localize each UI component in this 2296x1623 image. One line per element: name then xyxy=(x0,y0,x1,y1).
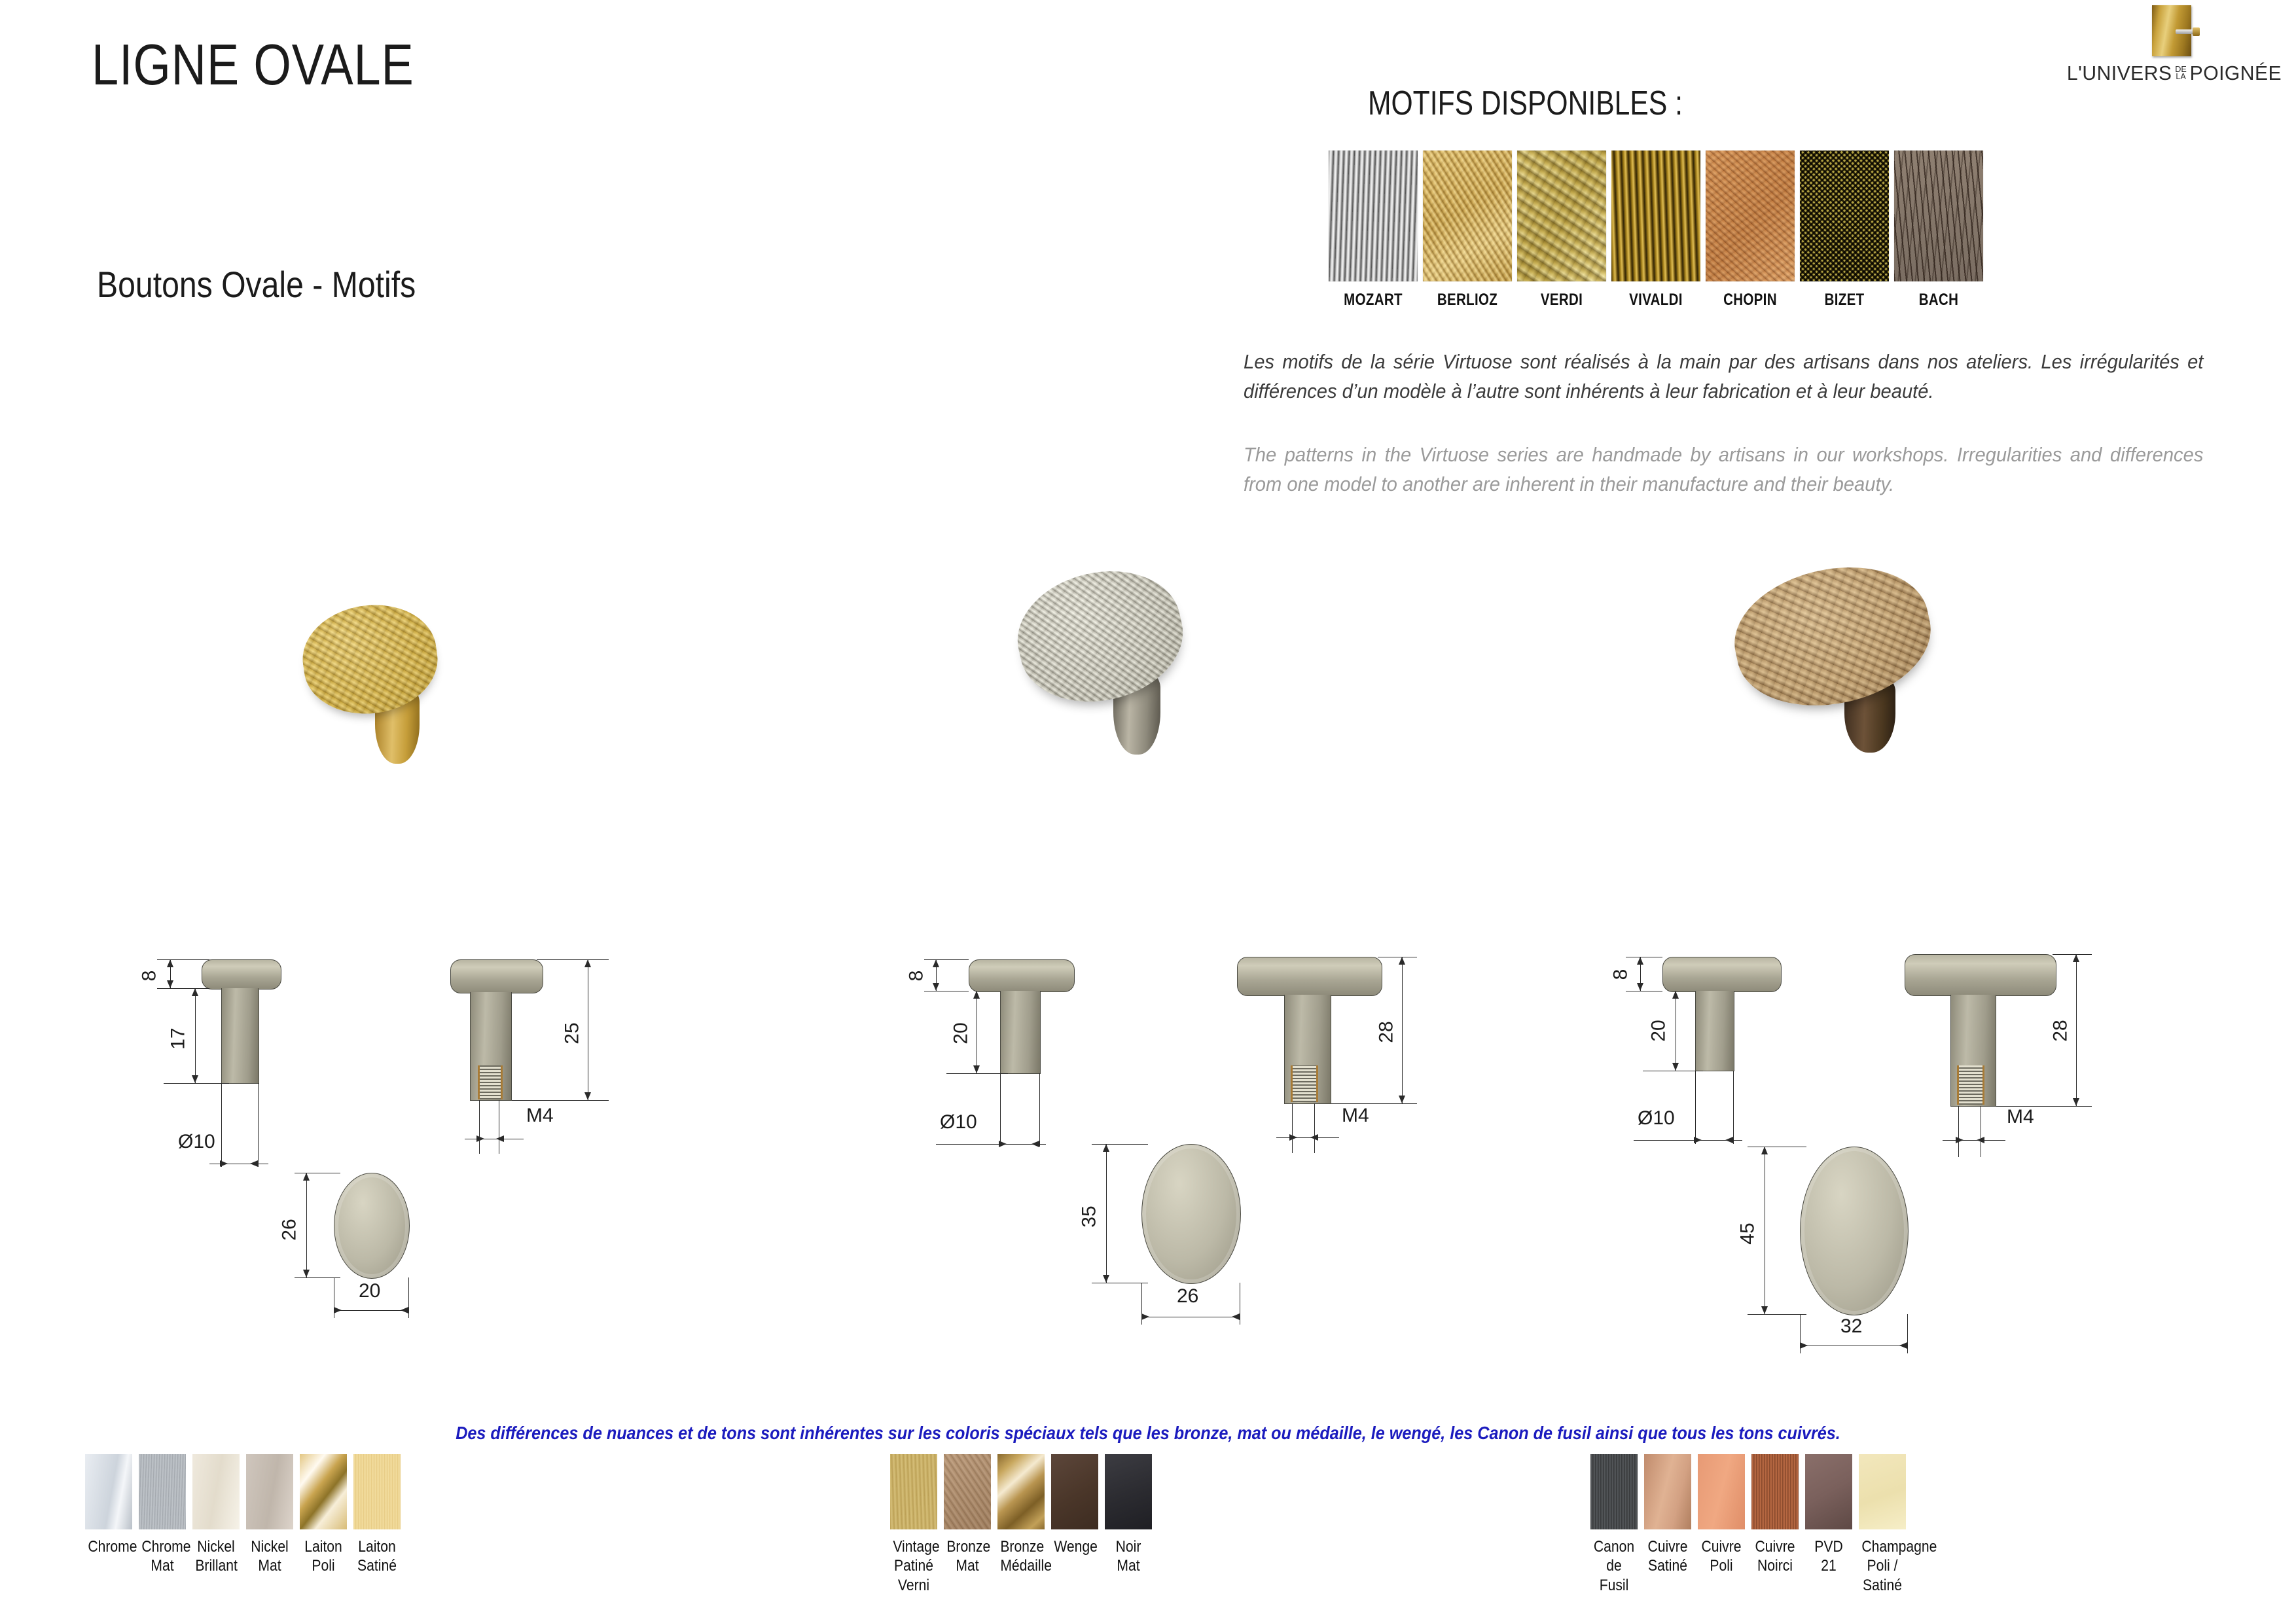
cap-profile xyxy=(450,959,543,993)
dim-total-height: 28 xyxy=(1376,1021,1398,1043)
ext-line xyxy=(946,1073,1008,1074)
ext-line xyxy=(157,959,209,960)
finish-label: Cuivre Poli xyxy=(1700,1537,1742,1576)
ext-line xyxy=(1039,1073,1040,1147)
finish-item: Wenge xyxy=(1051,1454,1098,1595)
dim-oval-width: 26 xyxy=(1177,1285,1198,1308)
arrow-head xyxy=(167,980,173,988)
arrow-head xyxy=(192,1075,198,1083)
arrow-head xyxy=(220,1160,228,1167)
ext-line xyxy=(1733,1071,1734,1144)
arrow-head xyxy=(303,1270,310,1277)
motif-item: BERLIOZ xyxy=(1423,151,1512,310)
finish-swatch-laiton-poli xyxy=(300,1454,347,1529)
dim-line xyxy=(977,991,977,1073)
finish-swatch-vintage-patine-verni xyxy=(890,1454,937,1529)
technical-drawing-small: 8 17 Ø10 25 M4 26 20 xyxy=(98,916,622,1257)
dim-line xyxy=(306,1173,307,1277)
arrow-head xyxy=(1637,957,1643,965)
stem-profile xyxy=(1695,991,1734,1071)
finish-swatch-bronze-medaille xyxy=(997,1454,1045,1529)
motif-swatch-mozart xyxy=(1329,151,1418,281)
dim-stem-length: 17 xyxy=(168,1027,190,1049)
brand-stack-bottom: LA xyxy=(2175,73,2187,80)
motif-item: VIVALDI xyxy=(1611,151,1700,310)
motif-item: CHOPIN xyxy=(1706,151,1795,310)
arrow-head xyxy=(973,991,980,999)
knob-head xyxy=(296,597,444,722)
dim-total-height: 25 xyxy=(562,1022,584,1044)
finish-swatch-laiton-satine xyxy=(353,1454,401,1529)
arrow-head xyxy=(933,983,939,991)
knob-shape xyxy=(2193,27,2200,36)
finish-item: Cuivre Satiné xyxy=(1644,1454,1691,1595)
finish-swatch-champagne-poli-satine xyxy=(1859,1454,1906,1529)
motif-swatch-bach xyxy=(1894,151,1983,281)
ext-line xyxy=(1626,957,1662,957)
finish-item: Bronze Médaille xyxy=(997,1454,1045,1595)
technical-drawing-medium: 8 20 Ø10 28 M4 35 26 xyxy=(884,916,1407,1257)
dim-line xyxy=(1765,1147,1765,1314)
arrow-head xyxy=(2073,1098,2079,1106)
ext-line xyxy=(1958,1106,1959,1157)
motif-swatch-verdi xyxy=(1517,151,1606,281)
finish-label: Chrome xyxy=(88,1537,129,1556)
ext-line xyxy=(924,991,969,991)
arrow-head xyxy=(999,1141,1007,1147)
arrow-head xyxy=(584,959,591,967)
finish-item: Nickel Mat xyxy=(246,1454,293,1576)
dim-line xyxy=(588,959,588,1100)
dim-cap-height: 8 xyxy=(138,971,160,982)
knob-head xyxy=(1723,550,1943,722)
arrow-head xyxy=(401,1307,408,1313)
arrow-head xyxy=(1672,1063,1679,1071)
motif-label: MOZART xyxy=(1336,291,1410,310)
arrow-head xyxy=(334,1307,342,1313)
finish-label: Canon de Fusil xyxy=(1593,1537,1634,1595)
dim-cap-height: 8 xyxy=(1609,969,1632,980)
finish-label: Bronze Mat xyxy=(946,1537,988,1576)
knob-head xyxy=(1005,556,1194,717)
arrow-head xyxy=(1761,1147,1768,1154)
arrow-head xyxy=(1289,1134,1297,1141)
motif-item: BACH xyxy=(1894,151,1983,310)
description-french: Les motifs de la série Virtuose sont réa… xyxy=(1244,347,2203,406)
arrow-head xyxy=(167,959,173,967)
brand-word-2: POIGNÉE xyxy=(2190,62,2282,85)
motif-label: CHOPIN xyxy=(1713,291,1787,310)
dim-oval-height: 26 xyxy=(279,1219,301,1240)
ext-line xyxy=(258,1083,259,1167)
finish-swatch-canon-de-fusil xyxy=(1590,1454,1638,1529)
finish-item: Noir Mat xyxy=(1105,1454,1152,1595)
ext-line xyxy=(157,988,209,989)
technical-drawing-large: 8 20 Ø10 28 M4 45 32 xyxy=(1604,916,2193,1257)
arrow-head xyxy=(1672,991,1679,999)
finish-note: Des différences de nuances et de tons so… xyxy=(115,1423,2181,1444)
finish-swatch-pvd-21 xyxy=(1805,1454,1852,1529)
cap-profile xyxy=(1905,954,2056,996)
ext-line xyxy=(1378,957,1417,957)
arrow-head xyxy=(1637,983,1643,991)
dim-line xyxy=(465,1139,524,1139)
ext-line xyxy=(1626,991,1662,991)
dim-stem-length: 20 xyxy=(1648,1020,1670,1041)
ext-line xyxy=(2053,954,2092,955)
finish-label: Laiton Satiné xyxy=(356,1537,397,1576)
dim-shaft-diameter: Ø10 xyxy=(940,1111,977,1133)
finish-swatch-cuivre-poli xyxy=(1698,1454,1745,1529)
finish-item: Champagne Poli / Satiné xyxy=(1859,1454,1906,1595)
finish-label: PVD 21 xyxy=(1808,1537,1849,1576)
page-title: LIGNE OVALE xyxy=(92,31,414,98)
finish-label: Bronze Médaille xyxy=(1000,1537,1041,1576)
arrow-head xyxy=(1977,1137,1984,1143)
finish-label: Nickel Brillant xyxy=(195,1537,236,1576)
door-handle-icon xyxy=(2149,5,2199,56)
finish-swatch-nickel-mat xyxy=(246,1454,293,1529)
cap-profile xyxy=(1237,957,1382,996)
finish-group-right: Canon de Fusil Cuivre Satiné Cuivre Poli… xyxy=(1590,1454,1906,1595)
cap-profile xyxy=(1662,957,1782,992)
ext-line xyxy=(1981,1106,1981,1157)
dim-thread: M4 xyxy=(1342,1105,1369,1127)
arrow-head xyxy=(1725,1137,1733,1143)
finish-item: Laiton Satiné xyxy=(353,1454,401,1576)
finish-label: Nickel Mat xyxy=(249,1537,290,1576)
finish-item: Chrome xyxy=(85,1454,132,1576)
finish-label: Cuivre Noirci xyxy=(1754,1537,1795,1576)
stem-profile xyxy=(221,988,259,1084)
ext-line xyxy=(537,959,609,960)
finish-swatch-wenge xyxy=(1051,1454,1098,1529)
finish-label: Chrome Mat xyxy=(141,1537,183,1576)
ext-line xyxy=(512,1100,609,1101)
ext-line xyxy=(1092,1283,1148,1283)
ext-line xyxy=(1000,1073,1001,1147)
brand-word-stack: DE LA xyxy=(2174,66,2187,80)
arrow-head xyxy=(584,1092,591,1100)
finish-label: Cuivre Satiné xyxy=(1647,1537,1688,1576)
dim-oval-height: 45 xyxy=(1737,1222,1759,1244)
ext-line xyxy=(1748,1314,1806,1315)
page-subtitle: Boutons Ovale - Motifs xyxy=(97,263,416,306)
ext-line xyxy=(1092,1144,1148,1145)
finish-label: Vintage Patiné Verni xyxy=(893,1537,934,1595)
finish-item: Canon de Fusil xyxy=(1590,1454,1638,1595)
brand-logo: L'UNIVERS DE LA POIGNÉE xyxy=(2076,5,2272,85)
finish-swatch-chrome xyxy=(85,1454,132,1529)
motif-swatch-bizet xyxy=(1800,151,1889,281)
arrow-head xyxy=(1031,1141,1039,1147)
dim-total-height: 28 xyxy=(2050,1020,2072,1041)
dim-line xyxy=(1943,1140,2005,1141)
cap-profile xyxy=(969,959,1075,992)
stem-profile xyxy=(1000,991,1041,1074)
arrow-head xyxy=(1899,1342,1907,1349)
finish-swatch-chrome-mat xyxy=(139,1454,186,1529)
motif-label: BIZET xyxy=(1808,291,1881,310)
arrow-head xyxy=(1761,1306,1768,1314)
dim-line xyxy=(209,1164,268,1164)
arrow-head xyxy=(303,1173,310,1181)
ext-line xyxy=(1907,1314,1908,1353)
arrow-head xyxy=(1232,1313,1240,1320)
dim-shaft-diameter: Ø10 xyxy=(178,1131,215,1153)
oval-top-view xyxy=(334,1173,410,1279)
motif-label: VIVALDI xyxy=(1619,291,1693,310)
motif-item: BIZET xyxy=(1800,151,1889,310)
ext-line xyxy=(1240,1283,1240,1325)
dim-line xyxy=(1276,1137,1339,1138)
oval-top-view xyxy=(1141,1144,1241,1284)
dim-thread: M4 xyxy=(526,1105,554,1127)
dim-line xyxy=(2076,954,2077,1106)
motif-item: VERDI xyxy=(1517,151,1606,310)
arrow-head xyxy=(1956,1137,1964,1143)
ext-line xyxy=(1331,1103,1417,1104)
dim-oval-width: 32 xyxy=(1840,1315,1862,1338)
thread-symbol xyxy=(1291,1065,1318,1102)
finish-label: Noir Mat xyxy=(1107,1537,1149,1576)
motif-label: BERLIOZ xyxy=(1431,291,1504,310)
motifs-title: MOTIFS DISPONIBLES : xyxy=(1368,84,1683,123)
dim-line xyxy=(195,988,196,1083)
finish-swatch-nickel-brillant xyxy=(192,1454,240,1529)
motif-swatch-chopin xyxy=(1706,151,1795,281)
dim-thread: M4 xyxy=(2007,1106,2034,1128)
ext-line xyxy=(479,1100,480,1154)
finish-label: Wenge xyxy=(1054,1537,1095,1556)
finish-label: Champagne Poli / Satiné xyxy=(1861,1537,1903,1595)
motif-item: MOZART xyxy=(1329,151,1418,310)
ext-line xyxy=(1748,1147,1806,1147)
motif-swatch-strip: MOZART BERLIOZ VERDI VIVALDI CHOPIN BIZE… xyxy=(1329,151,1983,310)
ext-line xyxy=(1695,1071,1696,1144)
finish-item: Laiton Poli xyxy=(300,1454,347,1576)
motif-label: VERDI xyxy=(1525,291,1598,310)
ext-line xyxy=(499,1100,499,1154)
finish-item: Cuivre Poli xyxy=(1698,1454,1745,1595)
arrow-head xyxy=(250,1160,258,1167)
arrow-head xyxy=(2073,954,2079,962)
ext-line xyxy=(295,1173,340,1173)
finish-item: Bronze Mat xyxy=(944,1454,991,1595)
arrow-head xyxy=(476,1135,484,1142)
finish-item: Vintage Patiné Verni xyxy=(890,1454,937,1595)
photo-knob-bronze xyxy=(1734,569,1944,759)
arrow-head xyxy=(1103,1275,1109,1283)
dim-line xyxy=(1676,991,1676,1071)
dim-oval-width: 20 xyxy=(359,1280,380,1302)
arrow-head xyxy=(933,959,939,967)
motif-swatch-vivaldi xyxy=(1611,151,1700,281)
finish-item: PVD 21 xyxy=(1805,1454,1852,1595)
dim-oval-height: 35 xyxy=(1079,1205,1101,1227)
dim-line xyxy=(1800,1346,1907,1346)
thread-symbol xyxy=(1957,1065,1984,1105)
photo-knob-brass xyxy=(298,605,448,769)
ext-line xyxy=(221,1083,222,1167)
photo-knob-nickel xyxy=(1018,573,1201,762)
dim-shaft-diameter: Ø10 xyxy=(1638,1107,1675,1130)
arrow-head xyxy=(1310,1134,1318,1141)
dim-cap-height: 8 xyxy=(905,971,927,982)
ext-line xyxy=(408,1277,409,1318)
arrow-head xyxy=(1141,1313,1149,1320)
arrow-head xyxy=(1399,957,1405,965)
finish-swatch-cuivre-noirci xyxy=(1751,1454,1799,1529)
finish-item: Nickel Brillant xyxy=(192,1454,240,1576)
finish-swatch-bronze-mat xyxy=(944,1454,991,1529)
dim-line xyxy=(1402,957,1403,1103)
arrow-head xyxy=(973,1065,980,1073)
ext-line xyxy=(1643,1071,1703,1071)
arrow-head xyxy=(1694,1137,1702,1143)
dim-line xyxy=(1106,1144,1107,1283)
ext-line xyxy=(1314,1103,1315,1153)
dim-line xyxy=(936,1144,1046,1145)
brand-wordmark: L'UNIVERS DE LA POIGNÉE xyxy=(2079,62,2270,85)
arrow-head xyxy=(192,988,198,996)
cap-profile xyxy=(202,959,281,990)
arrow-head xyxy=(496,1135,504,1142)
finish-item: Cuivre Noirci xyxy=(1751,1454,1799,1595)
arrow-head xyxy=(1399,1096,1405,1103)
finish-swatch-noir-mat xyxy=(1105,1454,1152,1529)
finish-item: Chrome Mat xyxy=(139,1454,186,1576)
brand-word-1: L'UNIVERS xyxy=(2067,62,2172,85)
thread-symbol xyxy=(478,1065,503,1099)
finish-group-left: Chrome Chrome Mat Nickel Brillant Nickel… xyxy=(85,1454,401,1576)
motif-swatch-berlioz xyxy=(1423,151,1512,281)
dim-line xyxy=(1141,1317,1240,1317)
dim-line xyxy=(334,1310,408,1311)
dim-stem-length: 20 xyxy=(950,1022,973,1044)
ext-line xyxy=(1292,1103,1293,1153)
finish-label: Laiton Poli xyxy=(302,1537,344,1576)
ext-line xyxy=(924,959,969,960)
ext-line xyxy=(164,1083,229,1084)
oval-top-view xyxy=(1800,1147,1909,1315)
description-english: The patterns in the Virtuose series are … xyxy=(1244,440,2203,499)
finish-swatch-cuivre-satine xyxy=(1644,1454,1691,1529)
arrow-head xyxy=(1800,1342,1808,1349)
finish-group-middle: Vintage Patiné Verni Bronze Mat Bronze M… xyxy=(890,1454,1152,1595)
motif-label: BACH xyxy=(1902,291,1975,310)
arrow-head xyxy=(1103,1144,1109,1152)
